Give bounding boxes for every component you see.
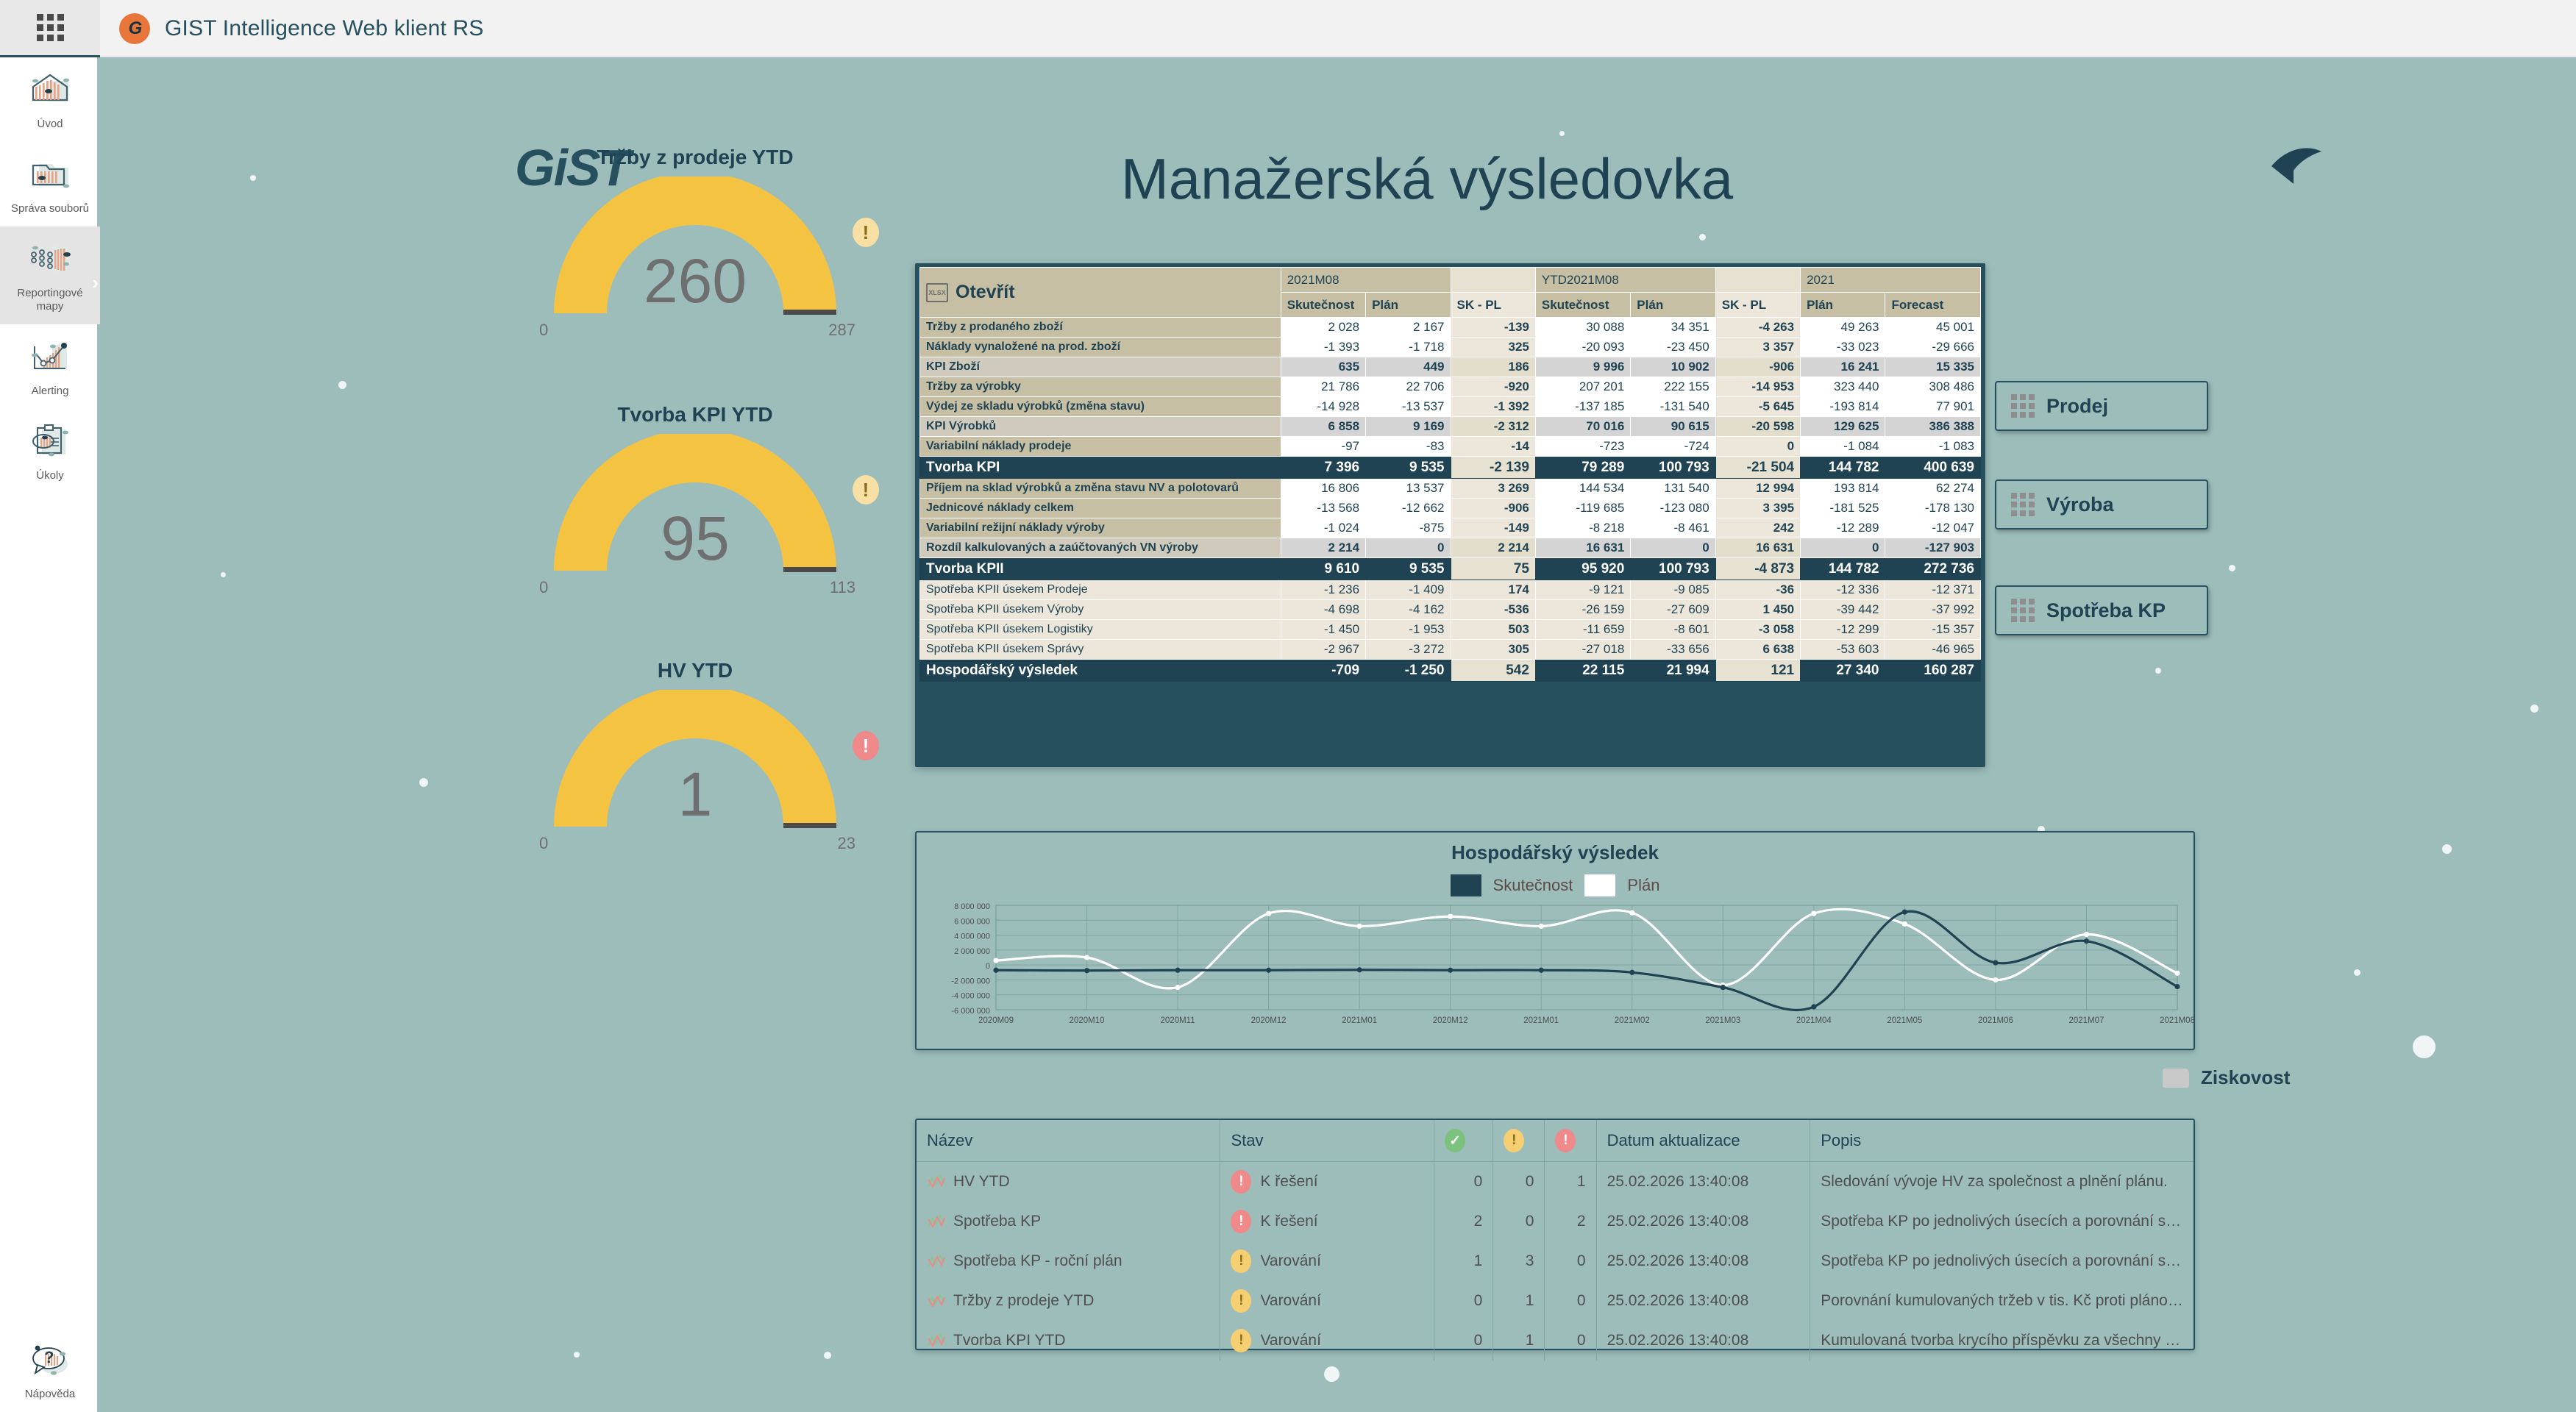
table-row[interactable]: Jednicové náklady celkem-13 568-12 662-9… <box>920 499 1981 518</box>
table-cell: 9 610 <box>1281 558 1365 580</box>
table-cell: 0 <box>1366 538 1451 558</box>
table-cell: -46 965 <box>1885 640 1981 660</box>
table-row[interactable]: Tržby z prodaného zboží2 0282 167-13930 … <box>920 318 1981 338</box>
chart-point <box>1448 914 1453 919</box>
pl-table: XLSX Otevřít 2021M08 YTD2021M08 2021 Sku… <box>919 267 1981 682</box>
table-cell: 323 440 <box>1801 377 1885 397</box>
chart-point <box>2174 984 2180 989</box>
green-count: 0 <box>1434 1321 1493 1361</box>
gauge-max: 287 <box>828 321 855 340</box>
table-cell: -8 461 <box>1631 518 1715 538</box>
table-cell: -8 601 <box>1631 620 1715 640</box>
table-cell: 0 <box>1715 437 1800 457</box>
table-cell: -23 450 <box>1631 338 1715 357</box>
table-row[interactable]: Rozdíl kalkulovaných a zaúčtovaných VN v… <box>920 538 1981 558</box>
gauge-min: 0 <box>539 578 548 597</box>
chart-series-Plán <box>996 909 2177 988</box>
open-label: Otevřít <box>956 282 1015 303</box>
table-row[interactable]: Spotřeba KPII úsekem Logistiky-1 450-1 9… <box>920 620 1981 640</box>
status-badge: !Varování <box>1220 1281 1434 1321</box>
table-row[interactable]: Výdej ze skladu výrobků (změna stavu)-14… <box>920 397 1981 417</box>
table-cell: -12 299 <box>1801 620 1885 640</box>
gauge-max: 23 <box>838 834 855 853</box>
gauge-value: 1 <box>533 763 857 825</box>
apps-grid-button[interactable] <box>0 0 100 57</box>
table-cell: 16 241 <box>1801 357 1885 377</box>
table-cell: -29 666 <box>1885 338 1981 357</box>
gauge-hv: HV YTD 1 0 23 ! <box>522 659 868 830</box>
alert-description: Sledování vývoje HV za společnost a plně… <box>1810 1162 2193 1202</box>
sparkline-icon <box>927 1293 946 1309</box>
sparkline-icon <box>927 1253 946 1269</box>
col-skutecnost-ytd: Skutečnost <box>1535 293 1630 318</box>
table-cell: -178 130 <box>1885 499 1981 518</box>
sidebar-item-sprava-souboru[interactable]: Správa souborů <box>0 142 100 227</box>
decor-bubble <box>2229 565 2235 571</box>
clipboard-icon <box>26 422 74 463</box>
gauge-min: 0 <box>539 321 548 340</box>
row-label: Variabilní režijní náklady výroby <box>920 518 1281 538</box>
table-cell: -3 058 <box>1715 620 1800 640</box>
chart-point <box>1811 1004 1816 1009</box>
table-cell: 70 016 <box>1535 417 1630 437</box>
row-label: Spotřeba KPII úsekem Logistiky <box>920 620 1281 640</box>
chart-card: Hospodářský výsledek Skutečnost Plán 8 0… <box>915 831 2195 1050</box>
decor-bubble <box>2413 1035 2436 1058</box>
table-cell: 13 537 <box>1366 479 1451 499</box>
row-label: Rozdíl kalkulovaných a zaúčtovaných VN v… <box>920 538 1281 558</box>
row-label: Výdej ze skladu výrobků (změna stavu) <box>920 397 1281 417</box>
grid-icon <box>2011 394 2035 418</box>
sidebar-item-reportingove-mapy[interactable]: Reportingové mapy › <box>0 227 100 325</box>
table-cell: 2 028 <box>1281 318 1365 338</box>
table-cell: -12 371 <box>1885 580 1981 600</box>
table-cell: -137 185 <box>1535 397 1630 417</box>
status-badge: !K řešení <box>1220 1162 1434 1202</box>
gauge-trzby: Tržby z prodeje YTD 260 0 287 ! <box>522 146 868 316</box>
sidebar-item-uvod[interactable]: Úvod <box>0 57 100 142</box>
table-cell: -4 263 <box>1715 318 1800 338</box>
table-cell: 7 396 <box>1281 457 1365 479</box>
sparkline-icon <box>927 1174 946 1190</box>
table-cell: 45 001 <box>1885 318 1981 338</box>
svg-text:2021M07: 2021M07 <box>2068 1016 2104 1025</box>
nav-button-vyroba[interactable]: Výroba <box>1995 479 2208 529</box>
table-cell: -21 504 <box>1715 457 1800 479</box>
table-cell: 186 <box>1451 357 1535 377</box>
table-row[interactable]: Spotřeba KPII úsekem Prodeje-1 236-1 409… <box>920 580 1981 600</box>
decor-bubble <box>1699 234 1706 240</box>
table-cell: -27 609 <box>1631 600 1715 620</box>
table-cell: -2 139 <box>1451 457 1535 479</box>
table-cell: -2 967 <box>1281 640 1365 660</box>
table-cell: -1 236 <box>1281 580 1365 600</box>
chart-point <box>993 968 998 973</box>
table-cell: 193 814 <box>1801 479 1885 499</box>
table-cell: -27 018 <box>1535 640 1630 660</box>
sparkline-icon <box>927 1213 946 1230</box>
table-cell: -12 047 <box>1885 518 1981 538</box>
table-cell: 129 625 <box>1801 417 1885 437</box>
alert-description: Kumulovaná tvorba krycího příspěvku za v… <box>1810 1321 2193 1361</box>
row-label: Náklady vynaložené na prod. zboží <box>920 338 1281 357</box>
chart-point <box>1175 968 1180 973</box>
svg-text:-4 000 000: -4 000 000 <box>951 992 990 1001</box>
decor-bubble <box>2530 705 2538 713</box>
xlsx-icon: XLSX <box>926 283 948 302</box>
table-cell: -12 662 <box>1366 499 1451 518</box>
grid-icon <box>2011 599 2035 622</box>
gauge-max: 113 <box>830 578 855 597</box>
table-cell: -12 289 <box>1801 518 1885 538</box>
amber-count: 3 <box>1493 1241 1545 1281</box>
red-count: 2 <box>1545 1202 1596 1241</box>
alerts-header-row: Název Stav ✓ ! ! Datum aktualizace Popis <box>917 1120 2193 1162</box>
table-cell: 22 115 <box>1535 660 1630 682</box>
decor-bubble <box>221 572 226 577</box>
table-cell: 49 263 <box>1801 318 1885 338</box>
table-row[interactable]: Tvorba KPII9 6109 5357595 920100 793-4 8… <box>920 558 1981 580</box>
chart-point <box>2084 932 2089 937</box>
table-cell: -33 023 <box>1801 338 1885 357</box>
status-text: K řešení <box>1260 1213 1317 1230</box>
table-cell: 16 631 <box>1715 538 1800 558</box>
table-cell: 15 335 <box>1885 357 1981 377</box>
table-cell: -3 272 <box>1366 640 1451 660</box>
status-text: K řešení <box>1260 1173 1317 1191</box>
chart-legend: Skutečnost Plán <box>917 874 2193 896</box>
sidebar-item-label: Alerting <box>32 385 69 399</box>
table-cell: -193 814 <box>1801 397 1885 417</box>
chart-point <box>993 958 998 963</box>
table-row[interactable]: Příjem na sklad výrobků a změna stavu NV… <box>920 479 1981 499</box>
nav-button-label: Spotřeba KP <box>2046 599 2166 622</box>
sidebar-item-alerting[interactable]: Alerting <box>0 324 100 409</box>
app-title: GIST Intelligence Web klient RS <box>165 16 484 41</box>
table-cell: 222 155 <box>1631 377 1715 397</box>
table-cell: -2 312 <box>1451 417 1535 437</box>
table-cell: 542 <box>1451 660 1535 682</box>
chart-point <box>1084 968 1089 973</box>
nav-button-spotreba-kp[interactable]: Spotřeba KP <box>1995 585 2208 635</box>
grid-icon <box>2011 493 2035 516</box>
group-header-2021: 2021 <box>1801 268 1981 293</box>
sidebar-item-label: Správa souborů <box>11 202 89 216</box>
table-cell: -14 <box>1451 437 1535 457</box>
svg-text:2020M12: 2020M12 <box>1251 1016 1287 1025</box>
chart-point <box>1357 924 1362 929</box>
row-label: Spotřeba KPII úsekem Výroby <box>920 600 1281 620</box>
chart-point <box>1993 960 1998 966</box>
ziskovost-label: Ziskovost <box>2201 1066 2290 1089</box>
group-header-2021m08: 2021M08 <box>1281 268 1451 293</box>
table-cell: 6 858 <box>1281 417 1365 437</box>
table-row[interactable]: Náklady vynaložené na prod. zboží-1 393-… <box>920 338 1981 357</box>
table-cell: 16 631 <box>1535 538 1630 558</box>
table-row[interactable]: Spotřeba KPII úsekem Výroby-4 698-4 162-… <box>920 600 1981 620</box>
folder-icon <box>2163 1069 2189 1088</box>
row-label: Spotřeba KPII úsekem Správy <box>920 640 1281 660</box>
chevron-right-icon[interactable]: › <box>92 271 99 294</box>
table-cell: 90 615 <box>1631 417 1715 437</box>
status-icon: ! <box>1231 1289 1251 1313</box>
sidebar-item-help[interactable]: ? Nápověda <box>0 1327 100 1412</box>
amber-count: 1 <box>1493 1281 1545 1321</box>
gauge-min: 0 <box>539 834 548 853</box>
alert-name: HV YTD <box>917 1162 1220 1202</box>
svg-text:2021M04: 2021M04 <box>1796 1016 1832 1025</box>
alert-chart-icon <box>26 338 74 379</box>
table-cell: -1 024 <box>1281 518 1365 538</box>
list-item[interactable]: Tvorba KPI YTD!Varování01025.02.2026 13:… <box>917 1321 2193 1361</box>
svg-text:0: 0 <box>986 962 990 971</box>
table-cell: -1 084 <box>1801 437 1885 457</box>
dashboard-canvas: GiST Manažerská výsledovka Tržby z prode… <box>103 57 2576 1412</box>
status-icon: ! <box>1231 1170 1251 1194</box>
status-icon: ! <box>1231 1249 1251 1273</box>
table-row[interactable]: Tržby za výrobky21 78622 706-920207 2012… <box>920 377 1981 397</box>
svg-text:4 000 000: 4 000 000 <box>954 933 990 941</box>
table-row[interactable]: Spotřeba KPII úsekem Správy-2 967-3 2723… <box>920 640 1981 660</box>
decor-bubble <box>338 381 346 389</box>
table-cell: 325 <box>1451 338 1535 357</box>
table-cell: -13 568 <box>1281 499 1365 518</box>
alert-date: 25.02.2026 13:40:08 <box>1596 1202 1810 1241</box>
brand: G GIST Intelligence Web klient RS <box>119 13 484 44</box>
svg-text:2020M11: 2020M11 <box>1161 1016 1195 1025</box>
chart-point <box>2174 971 2180 976</box>
pl-table-card: XLSX Otevřít 2021M08 YTD2021M08 2021 Sku… <box>915 263 1985 767</box>
chart-point <box>1539 968 1544 973</box>
table-cell: -1 250 <box>1366 660 1451 682</box>
chart-point <box>1902 921 1907 927</box>
gauge-title: Tvorba KPI YTD <box>522 403 868 427</box>
status-icon: ! <box>1231 1210 1251 1233</box>
decor-bubble <box>250 175 256 181</box>
table-cell: 3 357 <box>1715 338 1800 357</box>
back-arrow-icon[interactable] <box>2267 138 2333 197</box>
red-count: 1 <box>1545 1162 1596 1202</box>
table-cell: -139 <box>1451 318 1535 338</box>
table-row[interactable]: Variabilní náklady prodeje-97-83-14-723-… <box>920 437 1981 457</box>
chart-point <box>1448 968 1453 973</box>
table-cell: -9 085 <box>1631 580 1715 600</box>
table-cell: 308 486 <box>1885 377 1981 397</box>
critical-badge-icon: ! <box>853 731 879 760</box>
col-nazev: Název <box>917 1120 1220 1162</box>
svg-text:-6 000 000: -6 000 000 <box>951 1007 990 1016</box>
table-cell: -123 080 <box>1631 499 1715 518</box>
svg-text:2021M03: 2021M03 <box>1705 1016 1740 1025</box>
nav-button-label: Prodej <box>2046 395 2108 418</box>
table-cell: 9 169 <box>1366 417 1451 437</box>
col-popis: Popis <box>1810 1120 2193 1162</box>
svg-text:8 000 000: 8 000 000 <box>954 902 990 911</box>
table-cell: 34 351 <box>1631 318 1715 338</box>
table-cell: 62 274 <box>1885 479 1981 499</box>
decor-bubble <box>824 1352 831 1359</box>
table-cell: 121 <box>1715 660 1800 682</box>
table-row[interactable]: Variabilní režijní náklady výroby-1 024-… <box>920 518 1981 538</box>
svg-text:2021M05: 2021M05 <box>1887 1016 1922 1025</box>
chart-point <box>1811 911 1816 916</box>
gauge-value: 260 <box>533 250 857 312</box>
sidebar-item-label: Úvod <box>37 118 63 132</box>
alert-date: 25.02.2026 13:40:08 <box>1596 1162 1810 1202</box>
row-label: Tvorba KPI <box>920 457 1281 479</box>
table-cell: -906 <box>1451 499 1535 518</box>
col-plan-ytd: Plán <box>1631 293 1715 318</box>
table-cell: 144 782 <box>1801 457 1885 479</box>
table-cell: -149 <box>1451 518 1535 538</box>
chart-point <box>1629 970 1634 975</box>
row-label: Tržby z prodaného zboží <box>920 318 1281 338</box>
table-cell: -12 336 <box>1801 580 1885 600</box>
sidebar: Úvod Správa souborů <box>0 57 100 1412</box>
table-cell: -127 903 <box>1885 538 1981 558</box>
table-cell: -920 <box>1451 377 1535 397</box>
status-text: Varování <box>1260 1292 1321 1310</box>
green-count: 1 <box>1434 1241 1493 1281</box>
sidebar-item-ukoly[interactable]: Úkoly <box>0 409 100 493</box>
table-cell: -1 450 <box>1281 620 1365 640</box>
table-cell: 635 <box>1281 357 1365 377</box>
table-cell: 144 534 <box>1535 479 1630 499</box>
ziskovost-link[interactable]: Ziskovost <box>2163 1066 2290 1089</box>
table-cell: -14 953 <box>1715 377 1800 397</box>
list-item[interactable]: Tržby z prodeje YTD!Varování01025.02.202… <box>917 1281 2193 1321</box>
red-count: 0 <box>1545 1281 1596 1321</box>
table-cell: -723 <box>1535 437 1630 457</box>
alert-name: Tržby z prodeje YTD <box>917 1281 1220 1321</box>
svg-text:2021M01: 2021M01 <box>1342 1016 1377 1025</box>
col-stav: Stav <box>1220 1120 1434 1162</box>
alert-name-text: Spotřeba KP <box>953 1213 1041 1230</box>
gauge-arc: 260 0 287 ! <box>533 176 857 316</box>
chart-point <box>1266 911 1271 916</box>
table-cell: -4 873 <box>1715 558 1800 580</box>
table-cell: -13 537 <box>1366 397 1451 417</box>
table-cell: 10 902 <box>1631 357 1715 377</box>
table-cell: -1 409 <box>1366 580 1451 600</box>
row-label: KPI Výrobků <box>920 417 1281 437</box>
table-cell: -15 357 <box>1885 620 1981 640</box>
row-label: Spotřeba KPII úsekem Prodeje <box>920 580 1281 600</box>
alerts-body: HV YTD!K řešení00125.02.2026 13:40:08Sle… <box>917 1162 2193 1361</box>
table-cell: 95 920 <box>1535 558 1630 580</box>
amber-count: 1 <box>1493 1321 1545 1361</box>
status-text: Varování <box>1260 1332 1321 1349</box>
list-item[interactable]: Spotřeba KP - roční plán!Varování13025.0… <box>917 1241 2193 1281</box>
table-row[interactable]: KPI Zboží6354491869 99610 902-90616 2411… <box>920 357 1981 377</box>
scatter-map-icon <box>26 240 74 281</box>
table-cell: -5 645 <box>1715 397 1800 417</box>
legend-label-plan: Plán <box>1627 876 1659 895</box>
table-cell: 100 793 <box>1631 457 1715 479</box>
table-cell: 77 901 <box>1885 397 1981 417</box>
table-cell: -906 <box>1715 357 1800 377</box>
table-cell: 12 994 <box>1715 479 1800 499</box>
list-item[interactable]: HV YTD!K řešení00125.02.2026 13:40:08Sle… <box>917 1162 2193 1202</box>
table-cell: 174 <box>1451 580 1535 600</box>
chart-point <box>1721 985 1726 990</box>
table-cell: 2 214 <box>1281 538 1365 558</box>
gauge-title: Tržby z prodeje YTD <box>522 146 868 169</box>
row-label: KPI Zboží <box>920 357 1281 377</box>
col-skutecnost-m: Skutečnost <box>1281 293 1365 318</box>
pl-group-header-row: XLSX Otevřít 2021M08 YTD2021M08 2021 <box>920 268 1981 293</box>
list-item[interactable]: Spotřeba KP!K řešení20225.02.2026 13:40:… <box>917 1202 2193 1241</box>
table-cell: 503 <box>1451 620 1535 640</box>
table-cell: 16 806 <box>1281 479 1365 499</box>
table-cell: 0 <box>1801 538 1885 558</box>
nav-button-prodej[interactable]: Prodej <box>1995 381 2208 431</box>
folder-icon <box>26 155 74 196</box>
table-cell: 400 639 <box>1885 457 1981 479</box>
warning-badge-icon: ! <box>853 218 879 247</box>
nav-button-label: Výroba <box>2046 493 2114 516</box>
line-chart-svg: 8 000 0006 000 0004 000 0002 000 0000-2 … <box>917 899 2193 1032</box>
table-cell: 22 706 <box>1366 377 1451 397</box>
table-cell: 9 996 <box>1535 357 1630 377</box>
alerts-table: Název Stav ✓ ! ! Datum aktualizace Popis… <box>917 1120 2193 1361</box>
table-cell: -39 442 <box>1801 600 1885 620</box>
table-cell: 79 289 <box>1535 457 1630 479</box>
alert-name-text: HV YTD <box>953 1173 1010 1191</box>
decor-bubble <box>1324 1366 1339 1382</box>
check-green-icon: ✓ <box>1445 1129 1465 1152</box>
decor-bubble <box>1559 131 1565 136</box>
alert-date: 25.02.2026 13:40:08 <box>1596 1321 1810 1361</box>
table-cell: -26 159 <box>1535 600 1630 620</box>
group-header-spacer <box>1715 268 1800 293</box>
col-plan-y: Plán <box>1801 293 1885 318</box>
grid-apps-icon <box>37 14 64 41</box>
open-xlsx-cell[interactable]: XLSX Otevřít <box>920 268 1281 318</box>
table-cell: -1 392 <box>1451 397 1535 417</box>
table-cell: 3 395 <box>1715 499 1800 518</box>
green-count: 2 <box>1434 1202 1493 1241</box>
table-cell: 386 388 <box>1885 417 1981 437</box>
table-row[interactable]: KPI Výrobků6 8589 169-2 31270 01690 615-… <box>920 417 1981 437</box>
row-label: Tvorba KPII <box>920 558 1281 580</box>
table-cell: -131 540 <box>1631 397 1715 417</box>
svg-text:2020M09: 2020M09 <box>978 1016 1014 1025</box>
alert-date: 25.02.2026 13:40:08 <box>1596 1241 1810 1281</box>
status-badge: !K řešení <box>1220 1202 1434 1241</box>
table-cell: -709 <box>1281 660 1365 682</box>
table-cell: -33 656 <box>1631 640 1715 660</box>
critical-red-icon: ! <box>1555 1129 1576 1152</box>
table-cell: 3 269 <box>1451 479 1535 499</box>
table-cell: -37 992 <box>1885 600 1981 620</box>
table-row[interactable]: Hospodářský výsledek-709-1 25054222 1152… <box>920 660 1981 682</box>
svg-text:2021M01: 2021M01 <box>1523 1016 1559 1025</box>
table-cell: 75 <box>1451 558 1535 580</box>
table-cell: 21 786 <box>1281 377 1365 397</box>
table-cell: -14 928 <box>1281 397 1365 417</box>
table-cell: 30 088 <box>1535 318 1630 338</box>
table-cell: -181 525 <box>1801 499 1885 518</box>
table-cell: 9 535 <box>1366 457 1451 479</box>
status-icon: ! <box>1231 1329 1251 1352</box>
table-cell: -9 121 <box>1535 580 1630 600</box>
table-cell: -11 659 <box>1535 620 1630 640</box>
alert-date: 25.02.2026 13:40:08 <box>1596 1281 1810 1321</box>
home-icon <box>26 71 74 112</box>
gauge-arc: 1 0 23 ! <box>533 690 857 830</box>
table-row[interactable]: Tvorba KPI7 3969 535-2 13979 289100 793-… <box>920 457 1981 479</box>
